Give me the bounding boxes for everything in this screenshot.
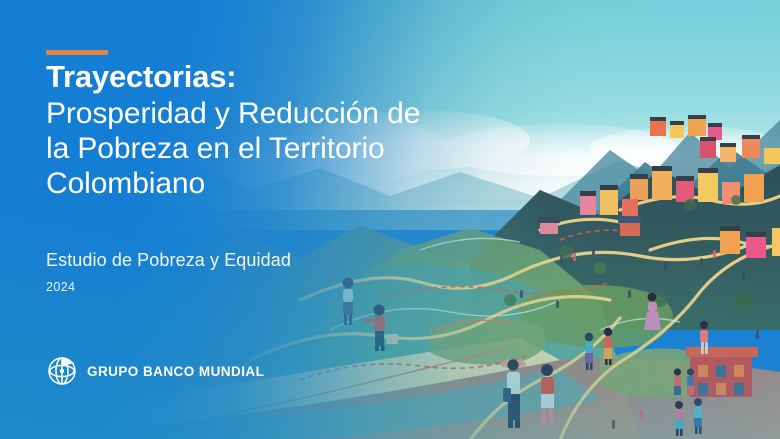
world-bank-group-logo: GRUPO BANCO MUNDIAL	[46, 355, 264, 387]
study-label: Estudio de Pobreza y Equidad	[46, 250, 291, 271]
page-title-subtitle: Prosperidad y Reducción de la Pobreza en…	[46, 96, 420, 201]
page-title-line-1: Prosperidad y Reducción de	[46, 96, 420, 131]
accent-rule	[46, 50, 108, 55]
publication-year: 2024	[46, 280, 75, 294]
page-title-main: Trayectorias:	[46, 59, 236, 94]
cover-text-block: Trayectorias: Prosperidad y Reducción de…	[46, 0, 516, 439]
page-title-line-3: Colombiano	[46, 166, 420, 201]
world-bank-wordmark: GRUPO BANCO MUNDIAL	[87, 364, 264, 379]
page-title-line-2: la Pobreza en el Territorio	[46, 131, 420, 166]
world-bank-globe-icon	[46, 355, 78, 387]
cover-page: Trayectorias: Prosperidad y Reducción de…	[0, 0, 780, 439]
